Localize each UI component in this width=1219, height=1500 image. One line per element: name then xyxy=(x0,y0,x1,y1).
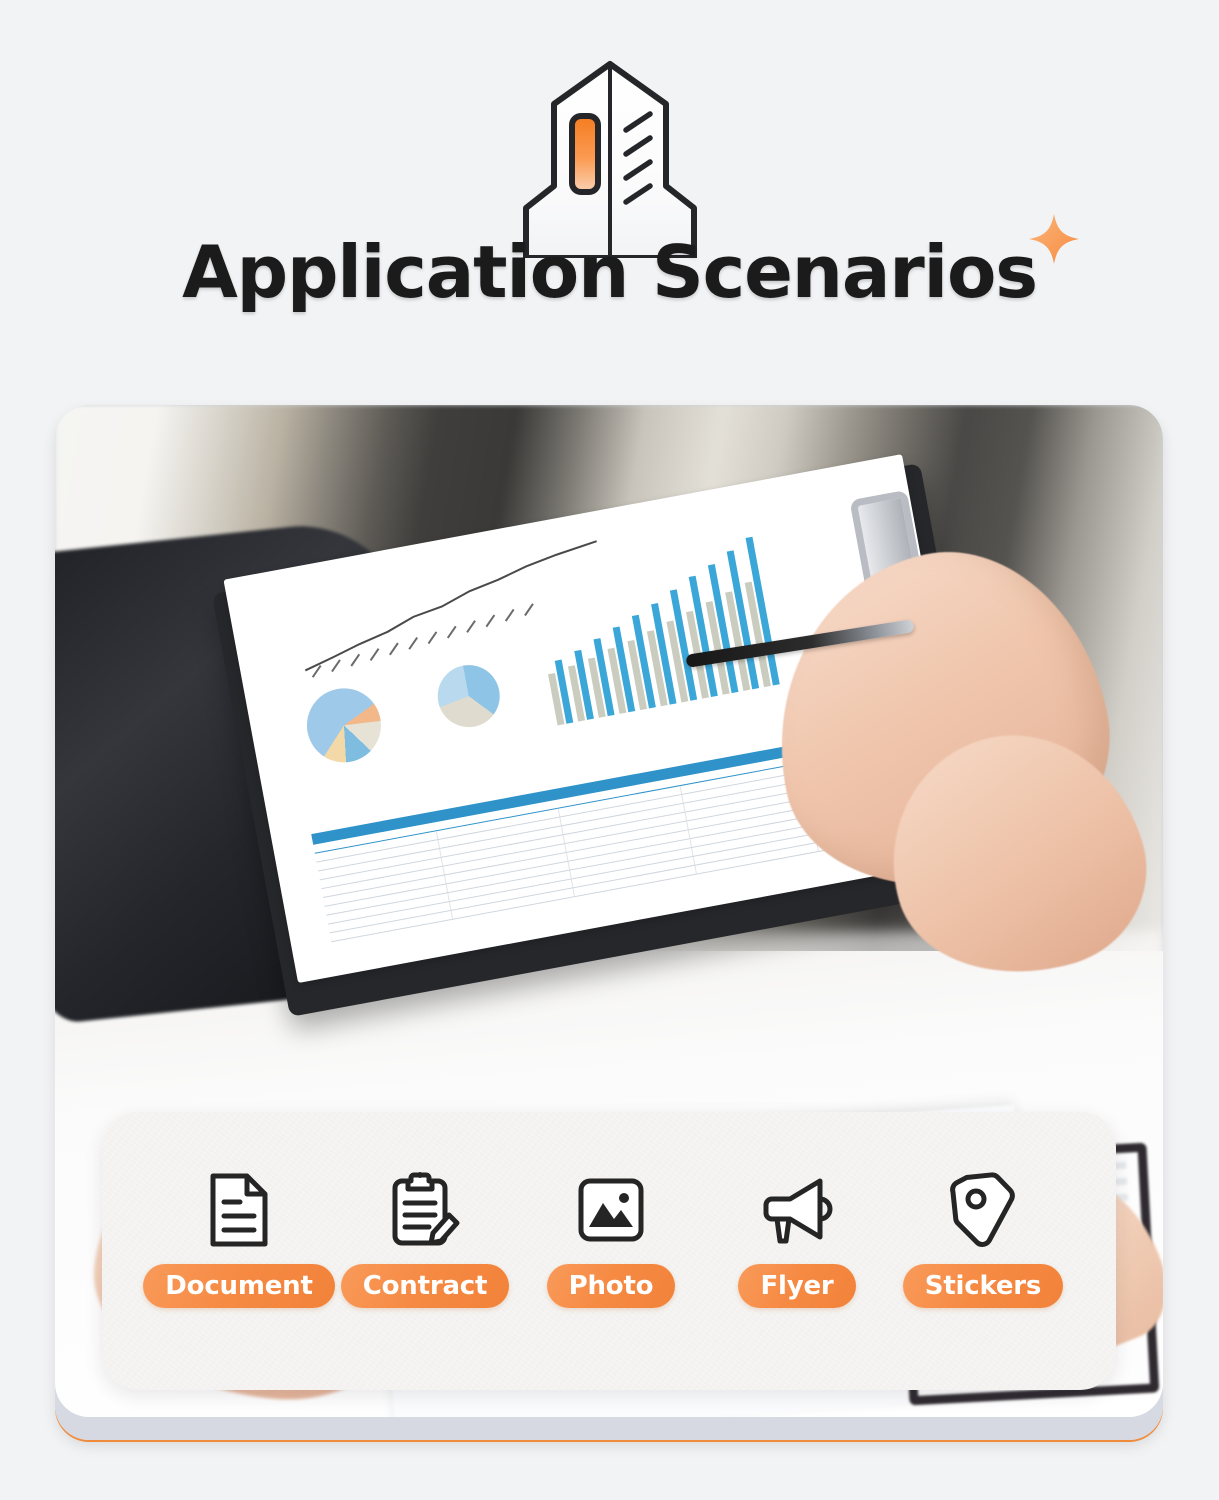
scenario-item-flyer[interactable]: Flyer xyxy=(704,1168,890,1308)
scenario-item-photo[interactable]: Photo xyxy=(518,1168,704,1308)
scenario-badge-photo[interactable]: Photo xyxy=(547,1264,676,1308)
photo-image-icon xyxy=(576,1168,646,1252)
scenario-badge-flyer[interactable]: Flyer xyxy=(738,1264,855,1308)
page-title: Application Scenarios xyxy=(182,230,1037,314)
building-tower-icon xyxy=(498,58,722,258)
scenario-badge-contract[interactable]: Contract xyxy=(341,1264,510,1308)
scenarios-card: Document Contract xyxy=(102,1112,1116,1390)
contract-clipboard-icon xyxy=(389,1168,461,1252)
scenario-item-stickers[interactable]: Stickers xyxy=(890,1168,1076,1308)
scenario-item-contract[interactable]: Contract xyxy=(332,1168,518,1308)
page-title-row: Application Scenarios xyxy=(0,236,1219,308)
sparkle-icon xyxy=(1027,212,1081,266)
document-icon xyxy=(207,1168,271,1252)
scenario-badge-stickers[interactable]: Stickers xyxy=(903,1264,1063,1308)
pie-chart-2 xyxy=(433,660,505,732)
scenario-item-document[interactable]: Document xyxy=(146,1168,332,1308)
scenario-list: Document Contract xyxy=(146,1168,1076,1308)
page-header: Application Scenarios xyxy=(0,0,1219,390)
pie-chart-1 xyxy=(301,682,387,768)
megaphone-flyer-icon xyxy=(758,1168,836,1252)
scenario-badge-document[interactable]: Document xyxy=(143,1264,334,1308)
price-tag-stickers-icon xyxy=(948,1168,1018,1252)
